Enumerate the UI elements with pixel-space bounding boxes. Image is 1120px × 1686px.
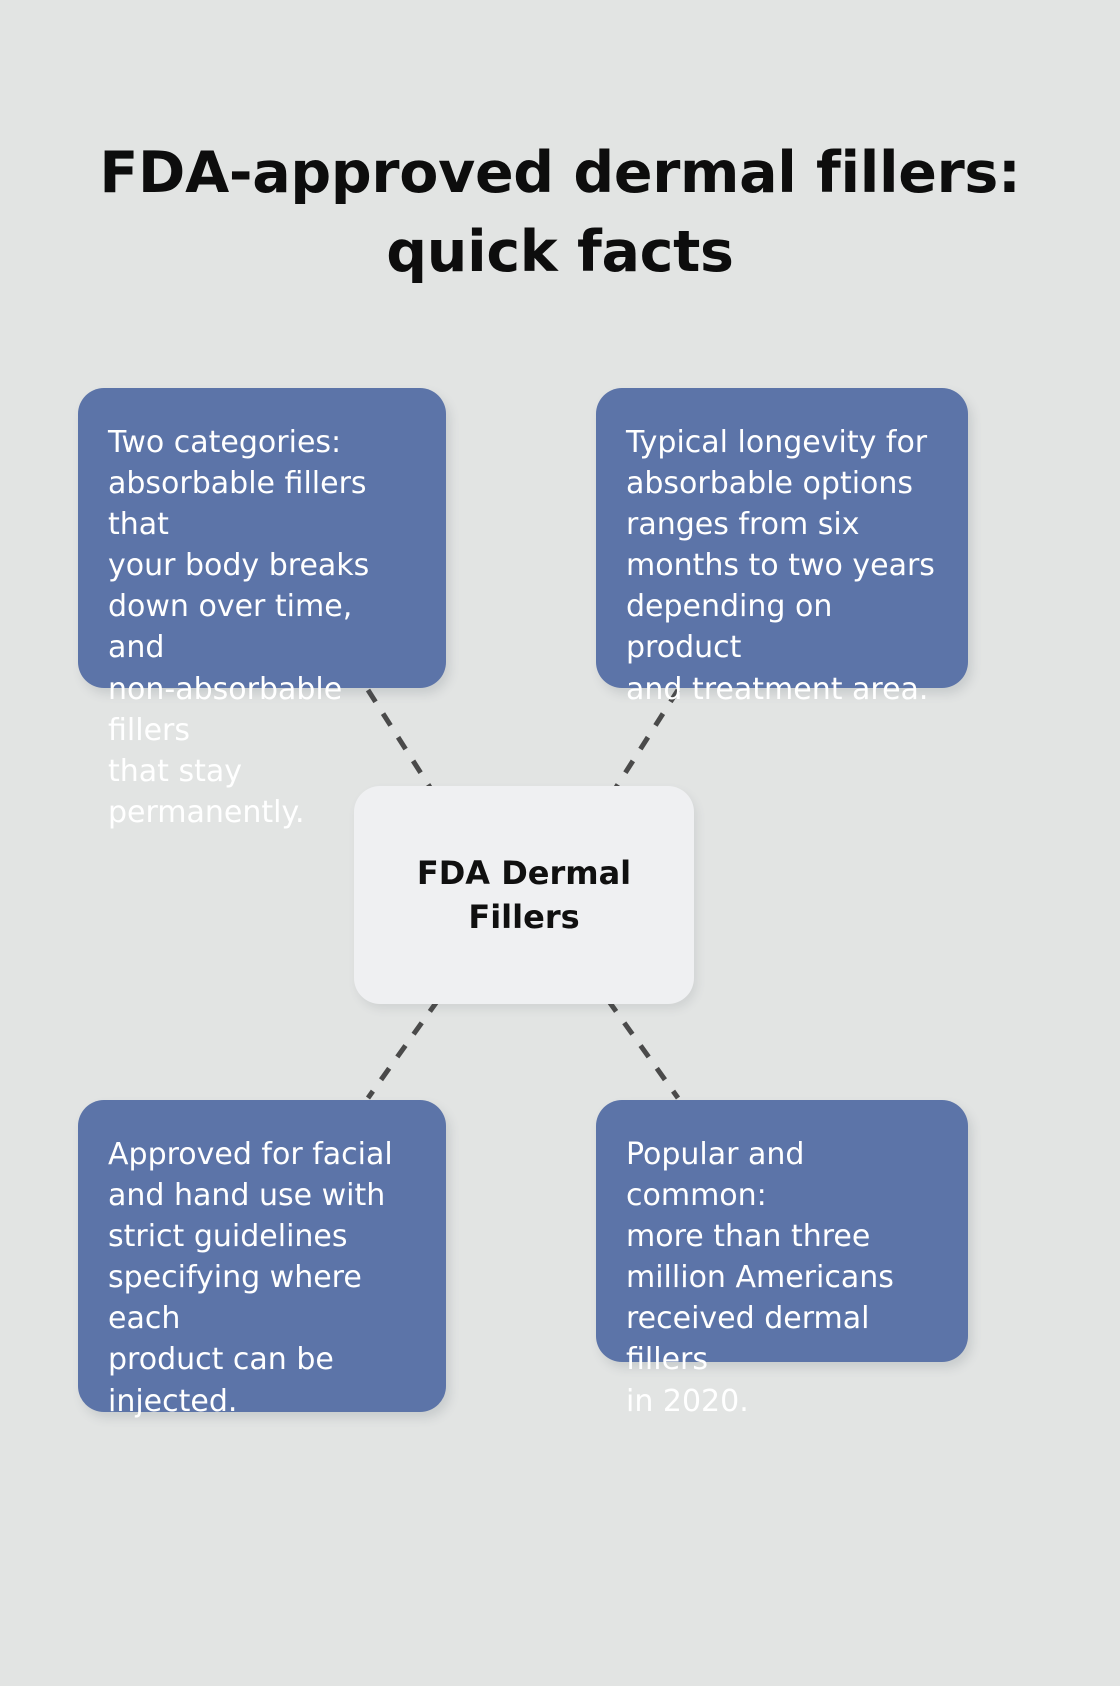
page-title: FDA-approved dermal fillers: quick facts <box>90 134 1030 291</box>
fact-card-top-right[interactable]: Typical longevity for absorbable options… <box>596 388 968 688</box>
infographic-canvas: FDA-approved dermal fillers: quick facts… <box>0 0 1120 1686</box>
fact-card-text: Two categories: absorbable fillers that … <box>108 422 416 833</box>
fact-card-bottom-right[interactable]: Popular and common: more than three mill… <box>596 1100 968 1362</box>
fact-card-text: Approved for facial and hand use with st… <box>108 1134 416 1422</box>
connector-center-to-bottom-left <box>368 1000 438 1098</box>
center-node[interactable]: FDA Dermal Fillers <box>354 786 694 1004</box>
fact-card-text: Popular and common: more than three mill… <box>626 1134 938 1422</box>
center-node-label: FDA Dermal Fillers <box>374 851 674 939</box>
fact-card-bottom-left[interactable]: Approved for facial and hand use with st… <box>78 1100 446 1412</box>
fact-card-text: Typical longevity for absorbable options… <box>626 422 938 710</box>
connector-center-to-bottom-right <box>608 1000 678 1098</box>
fact-card-top-left[interactable]: Two categories: absorbable fillers that … <box>78 388 446 688</box>
